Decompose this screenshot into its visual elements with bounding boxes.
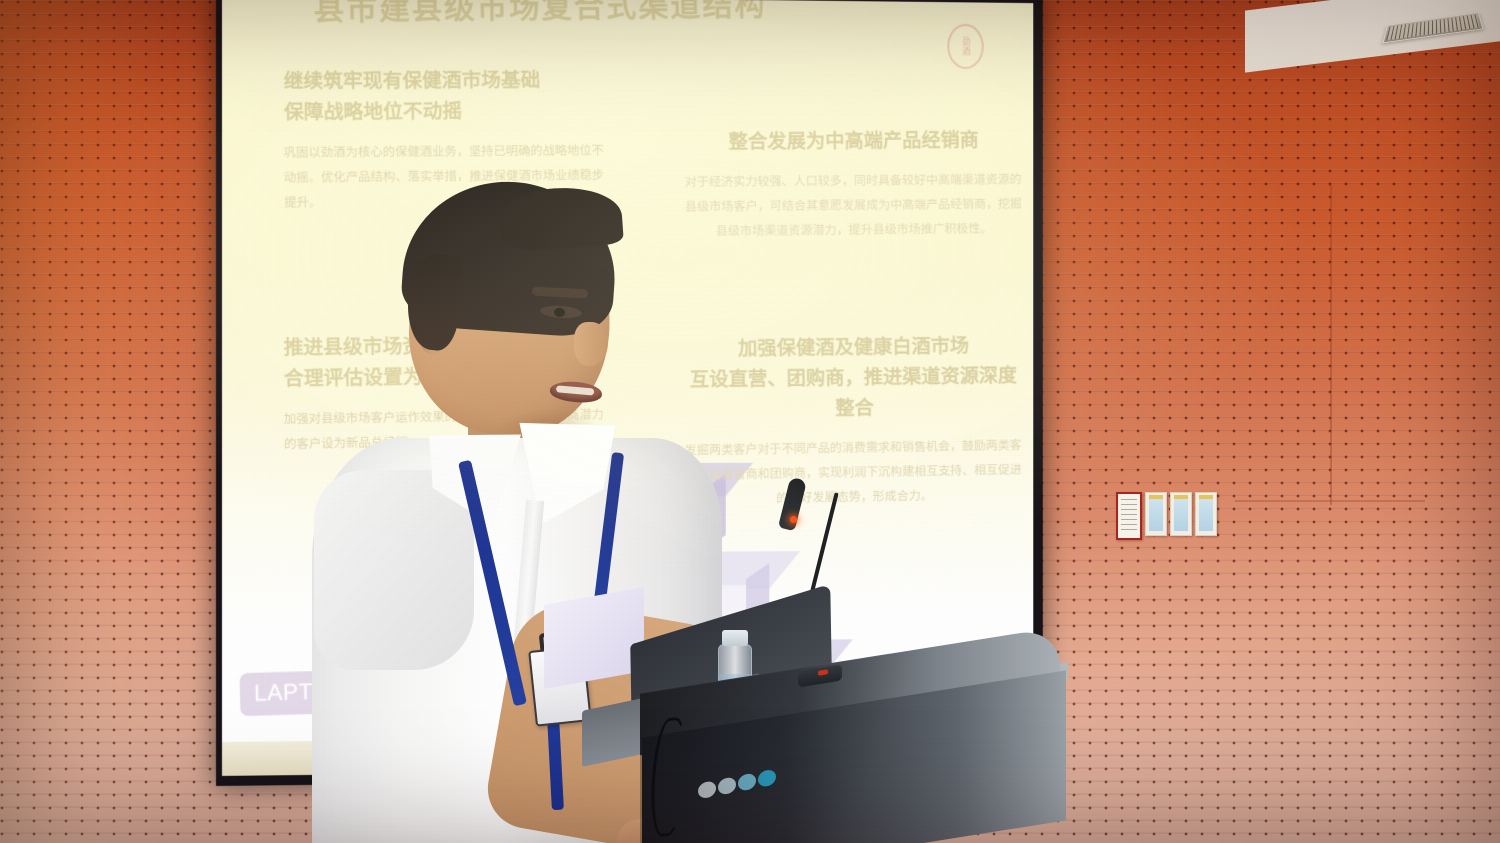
shirt-sleeve [314,470,474,670]
card-text-lines [1121,499,1137,534]
paper-stack [544,587,644,689]
slide-block-heading: 继续筑牢现有保健酒市场基础保障战略地位不动摇 [283,65,609,128]
microphone-led-indicator [790,516,797,523]
slide-title: 县市建县级市场复合式渠道结构 [313,0,995,29]
slide-block: 整合发展为中高端产品经销商 对于经济实力较强、人口较多，同时具备较好中高端渠道资… [685,126,1022,244]
brand-stamp-icon: 劲酒 [947,24,983,69]
slide-right-column: 整合发展为中高端产品经销商 对于经济实力较强、人口较多，同时具备较好中高端渠道资… [685,126,1022,511]
lectern-podium [640,600,1110,843]
slide-block-body: 发掘两类客户对于不同产品的消费需求和销售机会，鼓励两类客户互设直营商和团购商，实… [684,433,1022,512]
card-body [1174,499,1188,531]
wall-card-notice [1145,492,1167,536]
presentation-photo-scene: 县市建县级市场复合式渠道结构 劲酒 [0,0,1500,843]
slide-block: 加强保健酒及健康白酒市场互设直营、团购商，推进渠道资源深度整合 发掘两类客户对于… [685,333,1022,511]
card-body [1199,499,1213,531]
card-body [1149,499,1163,531]
wall-card-notice [1170,492,1192,536]
bottle-cap [722,630,748,646]
slide-block-heading: 加强保健酒及健康白酒市场互设直营、团购商，推进渠道资源深度整合 [684,331,1022,427]
wall-card-notice [1195,492,1217,536]
slide-block-heading: 整合发展为中高端产品经销商 [685,126,1022,159]
wall-mounted-cards [1116,492,1217,540]
slide-block-body: 对于经济实力较强、人口较多，同时具备较好中高端渠道资源的县级市场客户，可结合其意… [684,168,1022,245]
wall-card-certificate [1116,492,1142,540]
